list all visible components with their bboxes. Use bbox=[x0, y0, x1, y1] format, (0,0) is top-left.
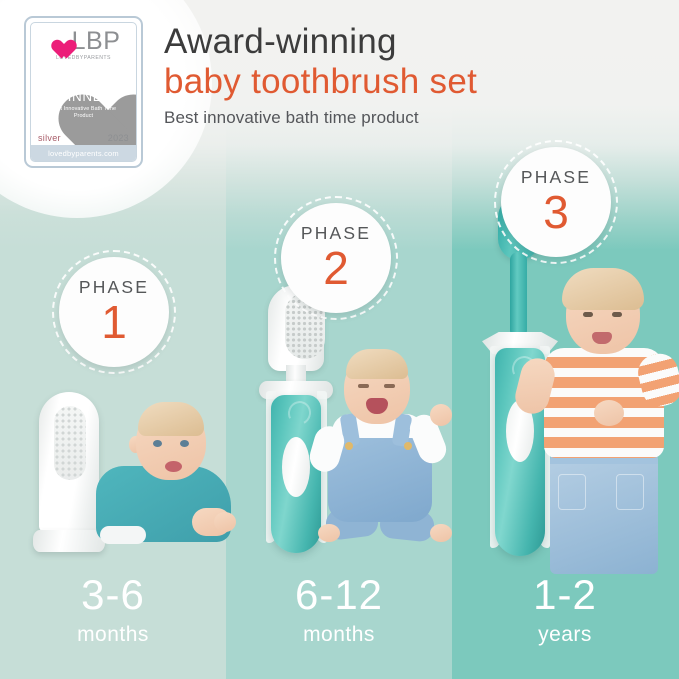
baby1-sleeve-cuff bbox=[100, 526, 146, 544]
age-unit-3: years bbox=[452, 624, 678, 645]
award-badge: LBP LOVEDBYPARENTS ★ WINNER Best Innovat… bbox=[24, 16, 143, 168]
phase-badge-3: PHASE 3 bbox=[494, 140, 618, 264]
phase-badge-2: PHASE 2 bbox=[274, 196, 398, 320]
award-meta-row: silver 2023 bbox=[31, 133, 136, 143]
baby2-fist bbox=[430, 404, 452, 426]
baby2-hair bbox=[346, 349, 408, 379]
training-brush-grip-swirl bbox=[285, 398, 314, 428]
training-brush-grip-oval bbox=[282, 437, 310, 497]
phase-badge-3-disc: PHASE 3 bbox=[501, 147, 611, 257]
phase-badge-1-disc: PHASE 1 bbox=[59, 257, 169, 367]
age-range-3: 1-2 bbox=[452, 574, 678, 616]
award-tier: silver bbox=[38, 133, 61, 143]
headline-block: Award-winning baby toothbrush set Best i… bbox=[164, 24, 664, 128]
baby2-foot-left bbox=[318, 524, 340, 542]
baby-photo-phase-1 bbox=[96, 404, 231, 564]
baby2-dungarees bbox=[328, 438, 432, 522]
finger-brush-base bbox=[33, 530, 105, 552]
phase-1-number: 1 bbox=[101, 299, 127, 345]
award-label: WINNER bbox=[38, 90, 130, 104]
baby1-eye-left bbox=[153, 440, 162, 447]
award-category: Best Innovative Bath Time Product bbox=[38, 106, 130, 121]
age-caption-3: 1-2 years bbox=[452, 574, 678, 645]
star-icon: ★ bbox=[102, 70, 116, 84]
age-range-2: 6-12 bbox=[226, 574, 452, 616]
baby3-pocket-left bbox=[558, 474, 586, 510]
baby1-mouth bbox=[165, 461, 182, 472]
baby2-eye-left bbox=[358, 384, 369, 388]
medal-heart-icon: ★ WINNER Best Innovative Bath Time Produ… bbox=[38, 64, 130, 144]
baby2-button-right bbox=[404, 442, 412, 450]
phase-badge-1: PHASE 1 bbox=[52, 250, 176, 374]
baby1-eye-right bbox=[180, 440, 189, 447]
baby3-eye-left bbox=[583, 312, 593, 317]
headline-subtitle: Best innovative bath time product bbox=[164, 108, 664, 128]
finger-brush-bristle-pad bbox=[54, 406, 86, 480]
age-unit-2: months bbox=[226, 624, 452, 645]
baby3-pocket-right bbox=[616, 474, 644, 510]
product-finger-toothbrush bbox=[33, 392, 105, 552]
age-unit-1: months bbox=[0, 624, 226, 645]
heart-icon bbox=[47, 31, 70, 52]
baby2-eye-right bbox=[384, 384, 395, 388]
award-year: 2023 bbox=[108, 133, 129, 143]
phase-1-label: PHASE bbox=[79, 279, 149, 297]
age-caption-1: 3-6 months bbox=[0, 574, 226, 645]
baby3-hand bbox=[594, 400, 624, 426]
phase-2-label: PHASE bbox=[301, 225, 371, 243]
phase-2-number: 2 bbox=[323, 245, 349, 291]
phase-3-number: 3 bbox=[543, 189, 569, 235]
baby-photo-phase-3 bbox=[536, 274, 679, 574]
headline-top: Award-winning bbox=[164, 24, 664, 61]
age-caption-2: 6-12 months bbox=[226, 574, 452, 645]
baby2-foot-right bbox=[430, 524, 452, 542]
product-infographic: LBP LOVEDBYPARENTS ★ WINNER Best Innovat… bbox=[0, 0, 679, 679]
baby3-eye-right bbox=[612, 312, 622, 317]
brand-name: LOVEDBYPARENTS bbox=[31, 55, 136, 61]
award-copy: WINNER Best Innovative Bath Time Product bbox=[38, 90, 130, 120]
toothbrush-neck bbox=[510, 252, 527, 338]
headline-bottom: baby toothbrush set bbox=[164, 63, 664, 101]
baby2-button-left bbox=[345, 442, 353, 450]
baby1-hair bbox=[138, 402, 204, 436]
finger-brush-body bbox=[39, 392, 99, 532]
phase-3-label: PHASE bbox=[521, 169, 591, 187]
brand-initials: LBP bbox=[72, 29, 121, 54]
brand-lockup: LBP bbox=[31, 29, 136, 54]
age-range-1: 3-6 bbox=[0, 574, 226, 616]
baby1-hand bbox=[214, 512, 236, 532]
baby3-mouth bbox=[592, 332, 612, 344]
baby3-hair bbox=[562, 268, 644, 310]
baby-photo-phase-2 bbox=[318, 352, 458, 552]
training-brush-handle bbox=[271, 395, 321, 553]
award-website: lovedbyparents.com bbox=[31, 145, 136, 161]
phase-badge-2-disc: PHASE 2 bbox=[281, 203, 391, 313]
baby3-jeans bbox=[550, 450, 658, 574]
award-badge-inner: LBP LOVEDBYPARENTS ★ WINNER Best Innovat… bbox=[30, 22, 137, 162]
